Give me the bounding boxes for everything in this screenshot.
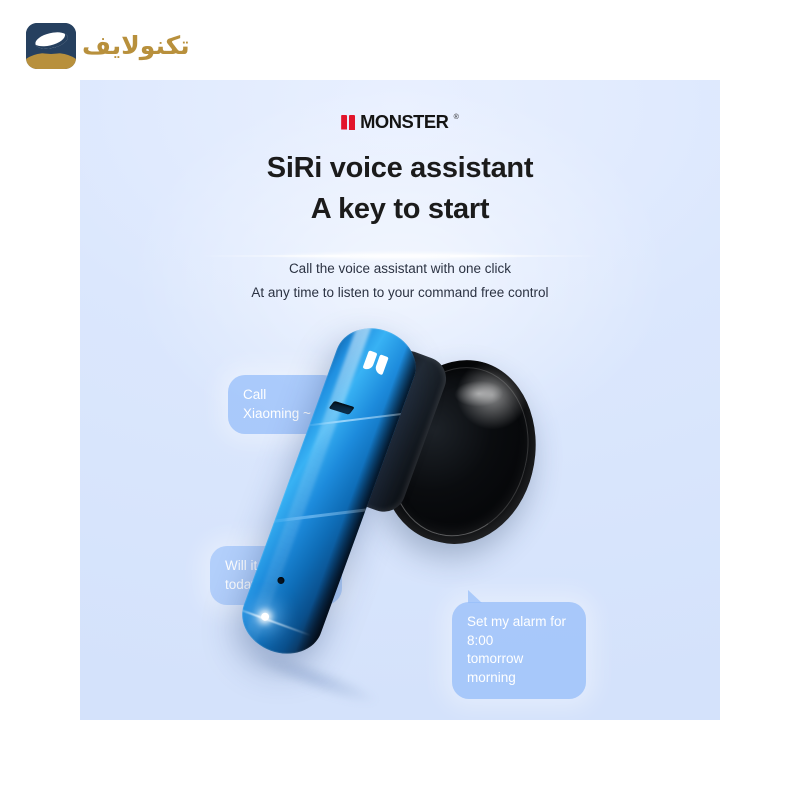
product-promo-image: تکنولایف MONSTER ® SiRi voice assistant … xyxy=(0,0,800,800)
monster-m-icon xyxy=(362,351,388,376)
subtitle-line-1: Call the voice assistant with one click xyxy=(80,257,720,281)
registered-trademark-icon: ® xyxy=(454,114,459,121)
headline-line-2: A key to start xyxy=(80,189,720,230)
monster-wordmark: MONSTER xyxy=(360,113,448,131)
headline-line-1: SiRi voice assistant xyxy=(80,148,720,189)
technolife-logo-icon xyxy=(26,23,76,69)
subtitle: Call the voice assistant with one click … xyxy=(80,257,720,304)
monster-brand-lockup: MONSTER ® xyxy=(80,113,720,131)
monster-m-icon xyxy=(341,115,355,130)
earbud-product-image xyxy=(276,330,556,710)
technolife-watermark: تکنولایف xyxy=(26,18,176,73)
subtitle-line-2: At any time to listen to your command fr… xyxy=(80,281,720,305)
technolife-wordmark: تکنولایف xyxy=(82,33,190,58)
headline: SiRi voice assistant A key to start xyxy=(80,148,720,230)
promo-panel: MONSTER ® SiRi voice assistant A key to … xyxy=(80,80,720,720)
